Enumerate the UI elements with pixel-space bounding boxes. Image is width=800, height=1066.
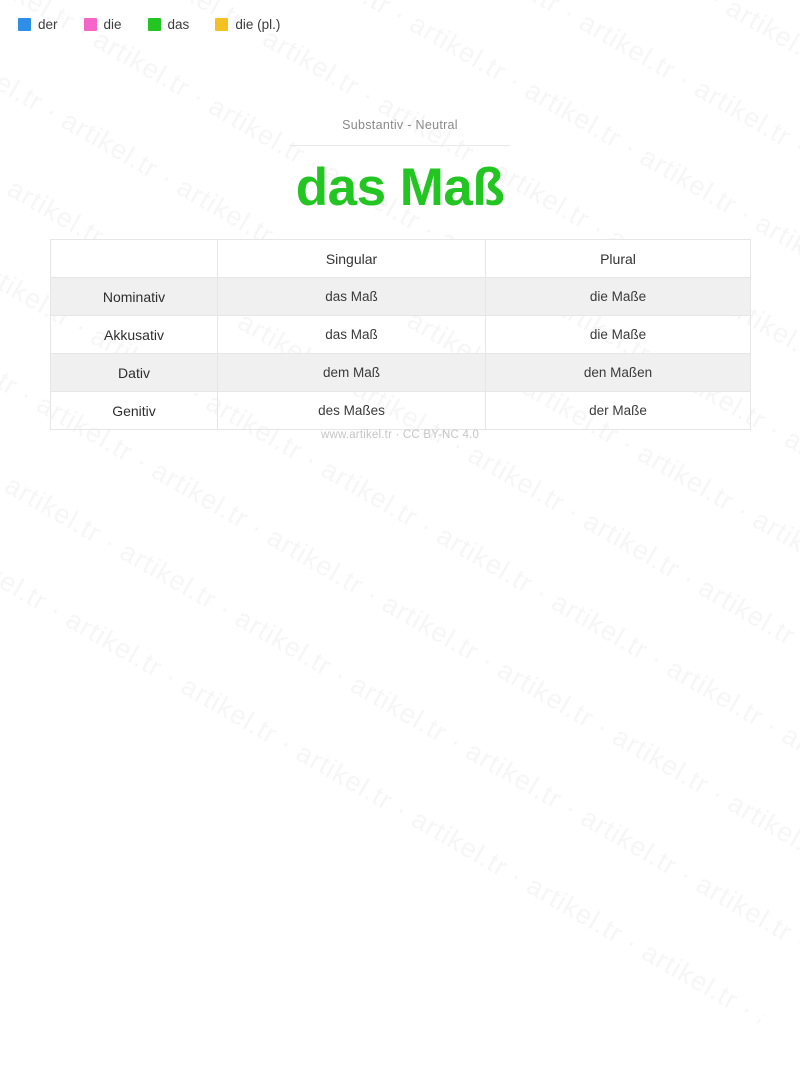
legend-item-diepl-plural: die (pl.) bbox=[215, 18, 280, 32]
legend-item-der: der bbox=[18, 18, 58, 32]
subtitle-divider bbox=[290, 145, 510, 146]
declension-table: Singular Plural Nominativdas Maßdie Maße… bbox=[50, 239, 751, 430]
column-header-plural: Plural bbox=[486, 240, 751, 278]
table-row: Dativdem Maßden Maßen bbox=[51, 354, 751, 392]
plural-form-cell: den Maßen bbox=[486, 354, 751, 392]
column-header-singular: Singular bbox=[218, 240, 486, 278]
legend-item-label: der bbox=[38, 18, 58, 32]
table-row: Akkusativdas Maßdie Maße bbox=[51, 316, 751, 354]
legend-item-die: die bbox=[84, 18, 122, 32]
column-header-case bbox=[51, 240, 218, 278]
table-row: Nominativdas Maßdie Maße bbox=[51, 278, 751, 316]
legend-item-label: das bbox=[168, 18, 190, 32]
singular-form-cell: das Maß bbox=[218, 316, 486, 354]
legend-item-das: das bbox=[148, 18, 190, 32]
plural-form-cell: die Maße bbox=[486, 316, 751, 354]
table-body: Nominativdas Maßdie MaßeAkkusativdas Maß… bbox=[51, 278, 751, 430]
article-color-legend: derdiedasdie (pl.) bbox=[18, 18, 280, 32]
color-swatch-icon bbox=[148, 18, 161, 31]
page-title: das Maß bbox=[0, 160, 800, 216]
footer-attribution: www.artikel.tr · CC BY-NC 4.0 bbox=[0, 429, 800, 441]
table-header-row: Singular Plural bbox=[51, 240, 751, 278]
legend-item-label: die bbox=[104, 18, 122, 32]
color-swatch-icon bbox=[18, 18, 31, 31]
singular-form-cell: des Maßes bbox=[218, 392, 486, 430]
declension-card: derdiedasdie (pl.) Substantiv - Neutral … bbox=[0, 0, 800, 533]
singular-form-cell: das Maß bbox=[218, 278, 486, 316]
word-category-subtitle: Substantiv - Neutral bbox=[0, 118, 800, 132]
plural-form-cell: die Maße bbox=[486, 278, 751, 316]
case-label-cell: Genitiv bbox=[51, 392, 218, 430]
case-label-cell: Dativ bbox=[51, 354, 218, 392]
color-swatch-icon bbox=[84, 18, 97, 31]
table-row: Genitivdes Maßesder Maße bbox=[51, 392, 751, 430]
subtitle-block: Substantiv - Neutral bbox=[0, 118, 800, 146]
singular-form-cell: dem Maß bbox=[218, 354, 486, 392]
plural-form-cell: der Maße bbox=[486, 392, 751, 430]
table-header: Singular Plural bbox=[51, 240, 751, 278]
case-label-cell: Nominativ bbox=[51, 278, 218, 316]
legend-item-label: die (pl.) bbox=[235, 18, 280, 32]
color-swatch-icon bbox=[215, 18, 228, 31]
case-label-cell: Akkusativ bbox=[51, 316, 218, 354]
